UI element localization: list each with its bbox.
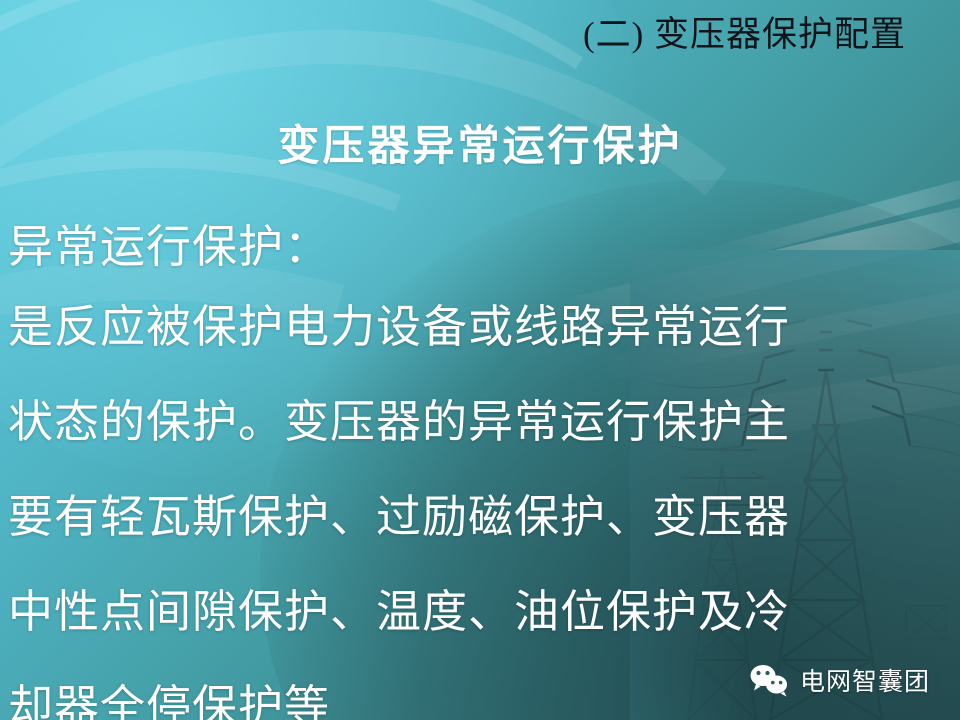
watermark-label: 电网智囊团 xyxy=(800,662,930,698)
body-line: 异常运行保护： xyxy=(8,214,908,280)
slide-title: 变压器异常运行保护 xyxy=(0,125,960,167)
body-line: 中性点间隙保护、温度、油位保护及冷 xyxy=(8,565,908,660)
slide-section-heading: (二) 变压器保护配置 xyxy=(583,17,906,52)
wechat-watermark: 电网智囊团 xyxy=(748,662,930,698)
body-line: 状态的保护。变压器的异常运行保护主 xyxy=(8,375,908,470)
slide-body-text: 异常运行保护： 是反应被保护电力设备或线路异常运行 状态的保护。变压器的异常运行… xyxy=(8,214,908,720)
wechat-icon xyxy=(748,663,790,697)
body-line: 要有轻瓦斯保护、过励磁保护、变压器 xyxy=(8,470,908,565)
presentation-slide: (二) 变压器保护配置 变压器异常运行保护 异常运行保护： 是反应被保护电力设备… xyxy=(0,0,960,720)
body-line: 是反应被保护电力设备或线路异常运行 xyxy=(8,280,908,375)
